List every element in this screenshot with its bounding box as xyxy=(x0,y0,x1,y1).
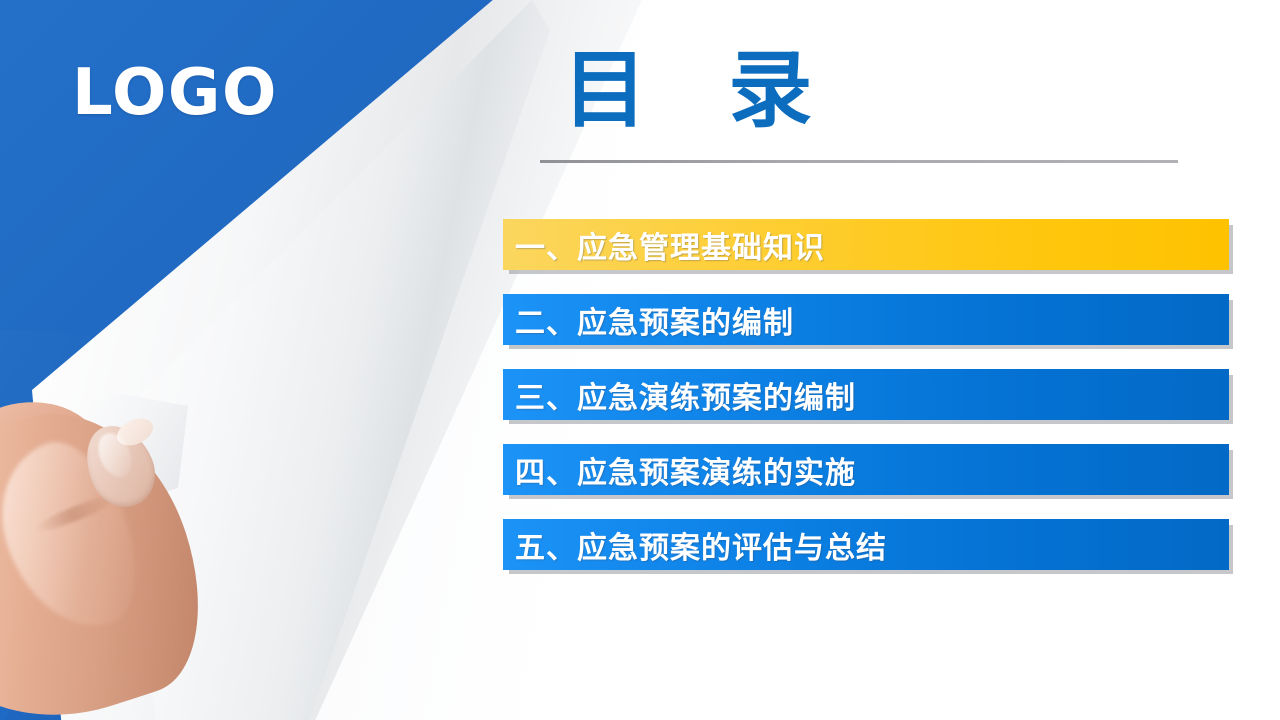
toc-item-5[interactable]: 五、应急预案的评估与总结 xyxy=(503,519,1229,570)
toc-item-2[interactable]: 二、应急预案的编制 xyxy=(503,294,1229,345)
hand-illustration xyxy=(0,398,240,720)
toc-item-1-label: 一、应急管理基础知识 xyxy=(503,223,825,267)
toc-item-4-label: 四、应急预案演练的实施 xyxy=(503,448,856,492)
logo-text: LOGO xyxy=(72,56,278,130)
toc-item-1[interactable]: 一、应急管理基础知识 xyxy=(503,219,1229,270)
page-title: 目 录 xyxy=(563,44,838,136)
slide-canvas: LOGO 目 录 一、应急管理基础知识 二、应急预案的编制 三、应急演练预案的编… xyxy=(0,0,1280,720)
toc-item-2-label: 二、应急预案的编制 xyxy=(503,298,794,342)
toc-item-3[interactable]: 三、应急演练预案的编制 xyxy=(503,369,1229,420)
toc-item-5-label: 五、应急预案的评估与总结 xyxy=(503,523,887,567)
toc-item-4[interactable]: 四、应急预案演练的实施 xyxy=(503,444,1229,495)
title-divider xyxy=(540,160,1178,163)
table-of-contents-list: 一、应急管理基础知识 二、应急预案的编制 三、应急演练预案的编制 四、应急预案演… xyxy=(503,219,1229,570)
toc-item-3-label: 三、应急演练预案的编制 xyxy=(503,373,856,417)
